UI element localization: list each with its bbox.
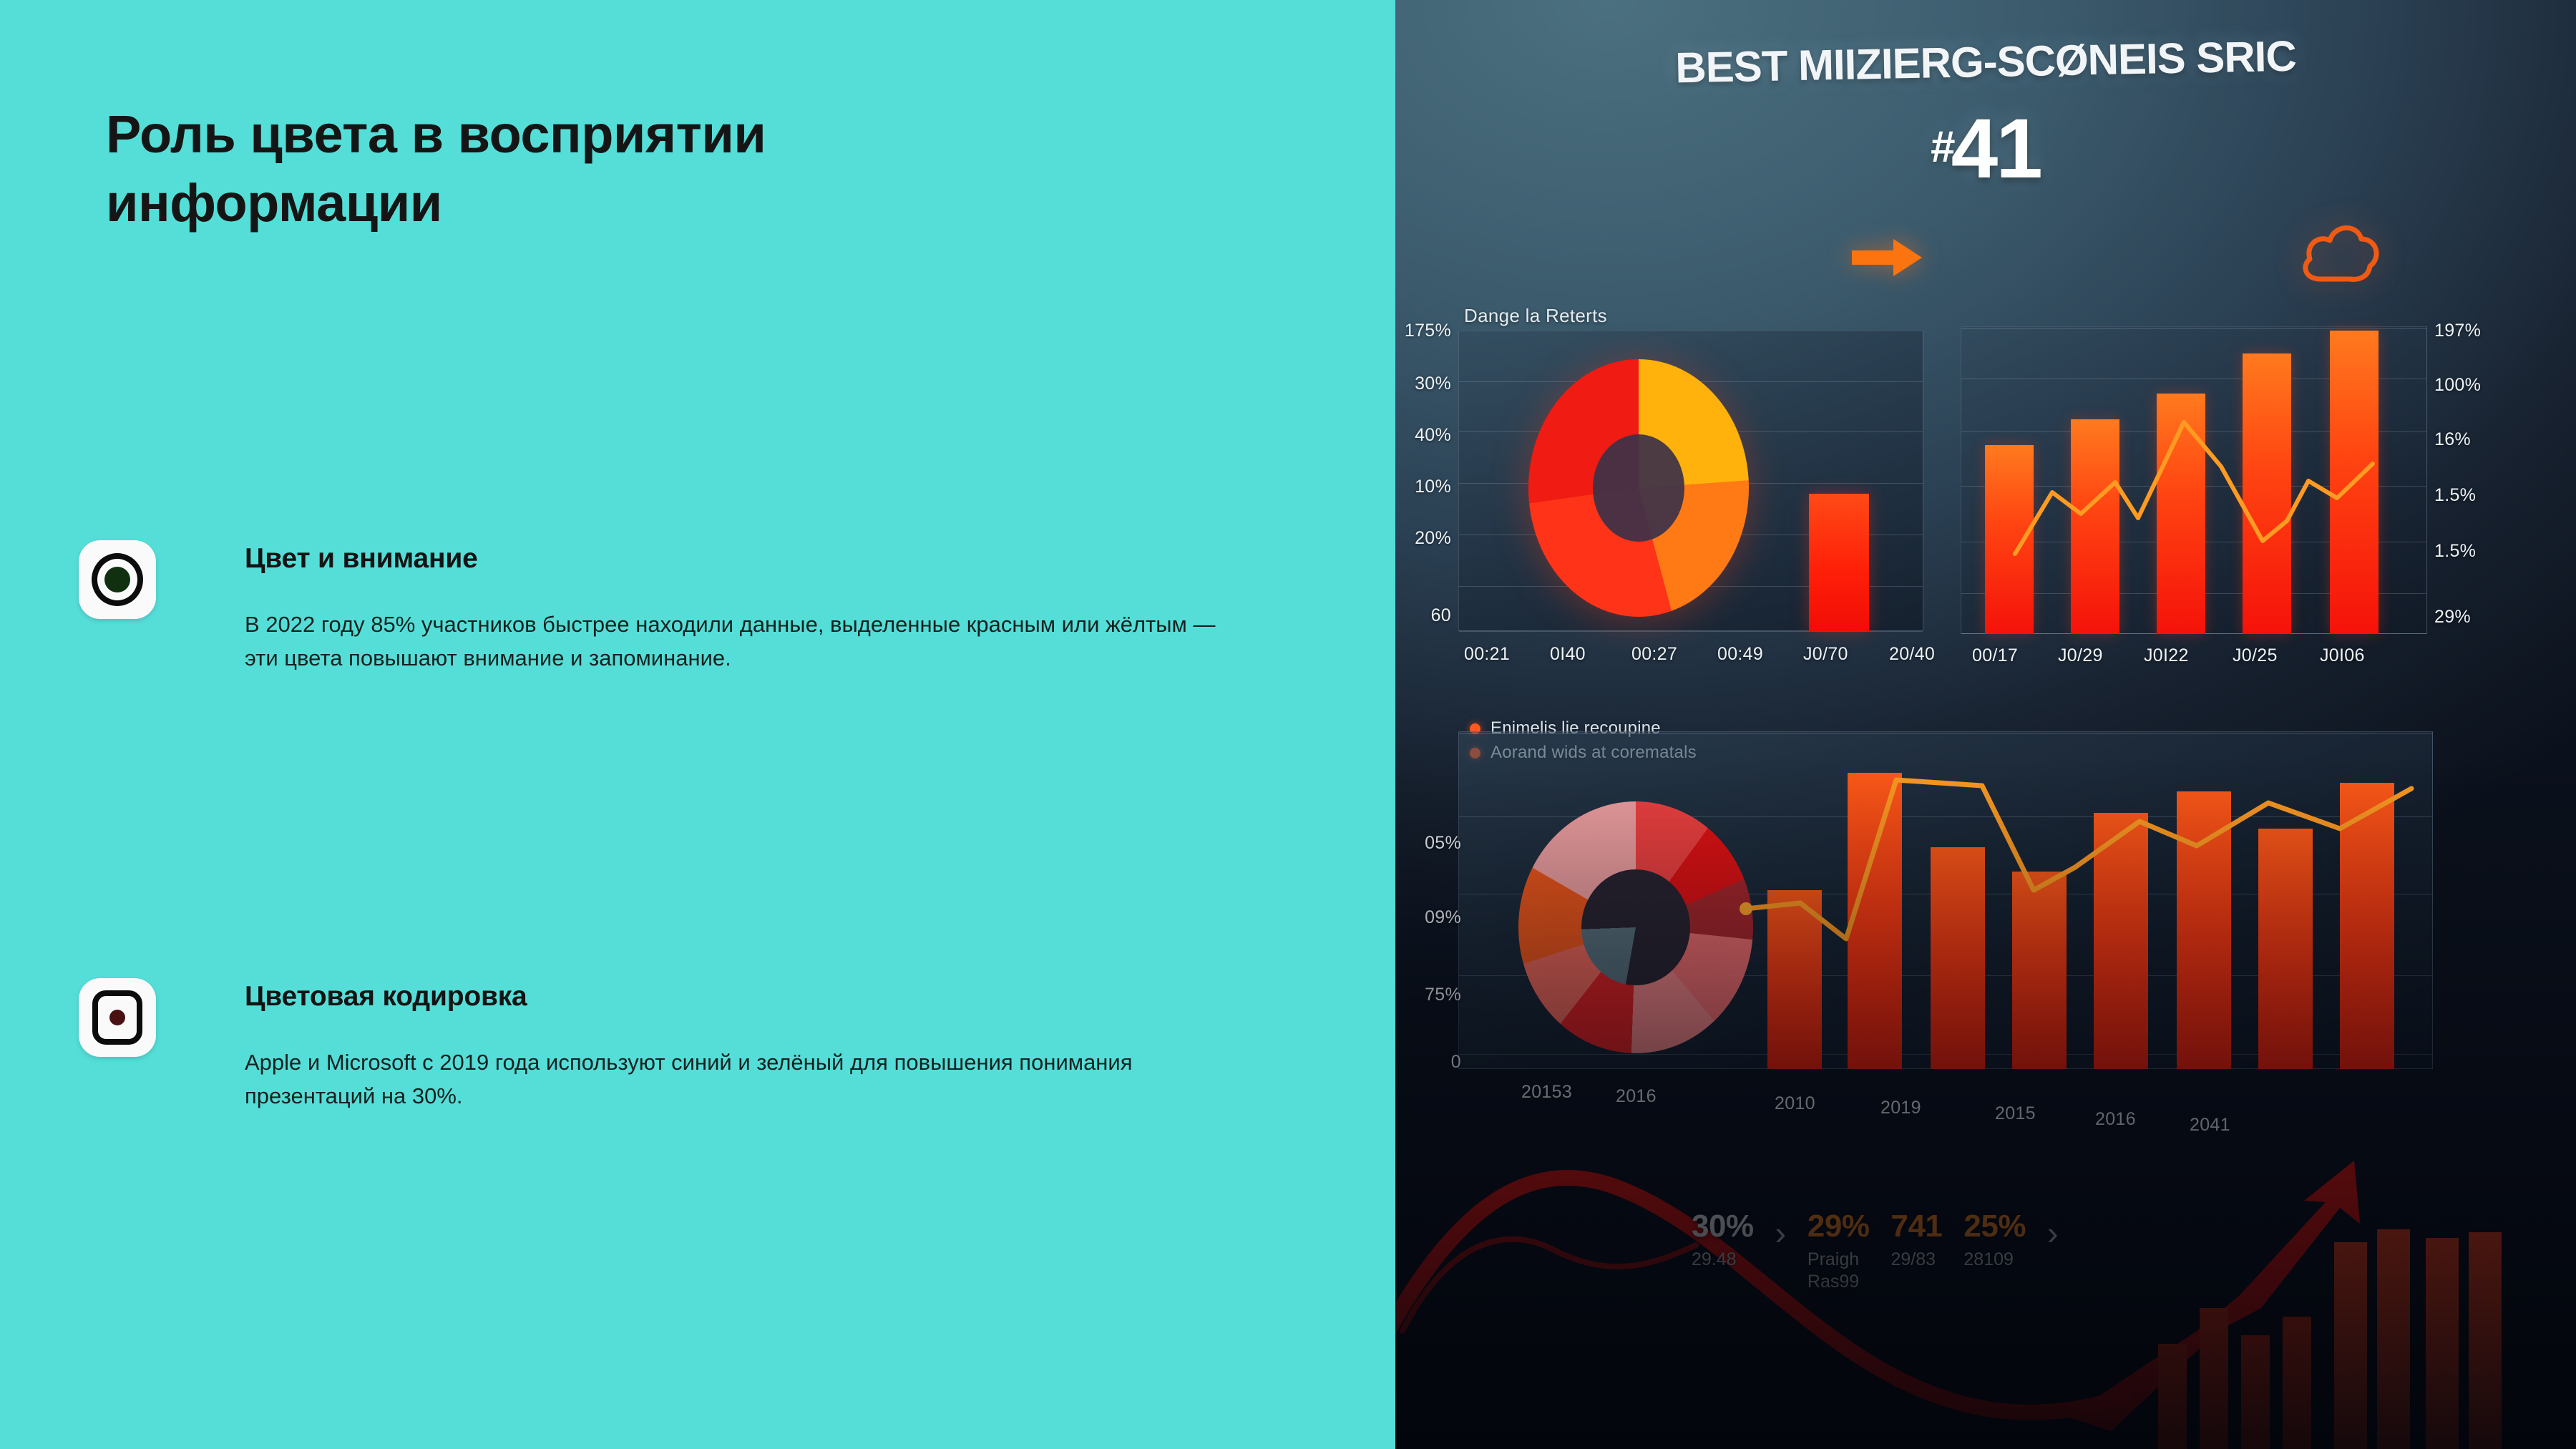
panel2-xtick-4: J0I06 bbox=[2320, 645, 2365, 666]
stat-item-2: 741 29/83 bbox=[1890, 1211, 1942, 1271]
slide-root: Роль цвета в восприятии информации Цвет … bbox=[0, 0, 2576, 1449]
ring-outline bbox=[92, 553, 143, 606]
stat-item-1: 29% Praigh Ras99 bbox=[1807, 1211, 1870, 1292]
panel3-ytick-1: 09% bbox=[1395, 907, 1461, 928]
panel1-xtick-5: 20/40 bbox=[1889, 644, 1935, 665]
panel2-xtick-0: 00/17 bbox=[1972, 645, 2018, 666]
page-title-line-1: Роль цвета в восприятии bbox=[106, 100, 1222, 169]
panel1-xtick-2: 00:27 bbox=[1631, 644, 1677, 665]
page-title-line-2: информации bbox=[106, 169, 1222, 238]
cloud-icon bbox=[2298, 215, 2384, 285]
panel1-ytick-2: 40% bbox=[1395, 425, 1451, 446]
bullet-item-2: Цветовая кодировка Apple и Microsoft с 2… bbox=[79, 978, 1338, 1193]
panel3-overlay-line bbox=[1767, 760, 2433, 1069]
dashboard-stats-row: 30% 29.48 › 29% Praigh Ras99 741 29/83 2… bbox=[1692, 1211, 2058, 1292]
panel1-xtick-4: J0/70 bbox=[1803, 644, 1848, 665]
bullet-heading-1: Цвет и внимание bbox=[245, 543, 1338, 575]
bullet-text-2: Apple и Microsoft с 2019 года используют… bbox=[245, 1045, 1246, 1113]
panel1-ytick-3: 10% bbox=[1395, 477, 1451, 497]
dashboard-header-number: #41 bbox=[1931, 100, 2041, 197]
panel2-ytick-3: 1.5% bbox=[2434, 485, 2476, 506]
panel1-donut-chart bbox=[1528, 359, 1749, 617]
panel2-xtick-2: J0I22 bbox=[2144, 645, 2189, 666]
stat-value-3: 25% bbox=[1963, 1211, 2026, 1242]
panel1-xtick-0: 00:21 bbox=[1464, 644, 1510, 665]
panel3-xtick-3: 2019 bbox=[1880, 1098, 1921, 1118]
panel2-xtick-3: J0/25 bbox=[2233, 645, 2278, 666]
hash-prefix: # bbox=[1931, 122, 1951, 172]
rounded-square-dot-icon bbox=[79, 978, 156, 1057]
panel3-xtick-2: 2010 bbox=[1775, 1093, 1815, 1114]
bullet-text-1: В 2022 году 85% участников быстрее наход… bbox=[245, 608, 1246, 675]
stat-item-0: 30% 29.48 bbox=[1692, 1211, 1754, 1271]
stat-sub-1: Praigh Ras99 bbox=[1807, 1249, 1870, 1292]
bullet-item-1: Цвет и внимание В 2022 году 85% участник… bbox=[79, 540, 1338, 755]
header-number-value: 41 bbox=[1951, 102, 2041, 196]
panel3-donut-chart bbox=[1518, 801, 1753, 1053]
panel3-ytick-2: 75% bbox=[1395, 985, 1461, 1005]
panel2-bar-series bbox=[1972, 326, 2416, 634]
panel2-xtick-1: J0/29 bbox=[2058, 645, 2103, 666]
panel1-ytick-0: 175% bbox=[1395, 321, 1451, 341]
panel2-ytick-0: 197% bbox=[2434, 321, 2481, 341]
bullet-body-2: Цветовая кодировка Apple и Microsoft с 2… bbox=[245, 978, 1338, 1113]
panel1-title: Dange la Reterts bbox=[1464, 305, 1607, 327]
chevron-right-icon-0[interactable]: › bbox=[1775, 1214, 1786, 1252]
panel1-ytick-1: 30% bbox=[1395, 374, 1451, 394]
panel2-ytick-1: 100% bbox=[2434, 375, 2481, 396]
stat-sub-3: 28109 bbox=[1963, 1249, 2026, 1271]
panel3-ytick-3: 0 bbox=[1395, 1052, 1461, 1073]
square-center-dot bbox=[109, 1010, 125, 1025]
panel1-ytick-4: 20% bbox=[1395, 528, 1451, 549]
target-ring-icon bbox=[79, 540, 156, 619]
chevron-right-icon-1[interactable]: › bbox=[2047, 1214, 2058, 1252]
stat-value-1: 29% bbox=[1807, 1211, 1870, 1242]
foreground-red-bars bbox=[2154, 1216, 2576, 1449]
panel2-ytick-5: 29% bbox=[2434, 607, 2471, 628]
stat-value-0: 30% bbox=[1692, 1211, 1754, 1242]
ring-center-dot bbox=[104, 567, 130, 592]
bullet-heading-2: Цветовая кодировка bbox=[245, 981, 1338, 1013]
stat-sub-2: 29/83 bbox=[1890, 1249, 1942, 1271]
dashboard-header-title: BEST MIIZIERG-SCØNEIS SRIC bbox=[1675, 31, 2297, 93]
page-title: Роль цвета в восприятии информации bbox=[106, 100, 1222, 238]
panel1-bar bbox=[1809, 494, 1869, 631]
panel1-ytick-5: 60 bbox=[1395, 605, 1451, 626]
stat-item-3: 25% 28109 bbox=[1963, 1211, 2026, 1271]
dashboard-image-panel: BEST MIIZIERG-SCØNEIS SRIC #41 Dange la … bbox=[1395, 0, 2576, 1449]
panel2-overlay-line bbox=[1972, 326, 2416, 634]
panel1-xtick-1: 0I40 bbox=[1550, 644, 1586, 665]
arrow-right-icon bbox=[1852, 238, 1923, 278]
bullet-body-1: Цвет и внимание В 2022 году 85% участник… bbox=[245, 540, 1338, 675]
panel3-xtick-1: 2016 bbox=[1616, 1086, 1657, 1107]
panel1-xtick-3: 00:49 bbox=[1717, 644, 1763, 665]
bullet-list: Цвет и внимание В 2022 году 85% участник… bbox=[79, 540, 1338, 1193]
panel2-ytick-4: 1.5% bbox=[2434, 541, 2476, 562]
square-outline bbox=[92, 990, 142, 1045]
panel3-ytick-0: 05% bbox=[1395, 833, 1461, 854]
panel3-xtick-0: 20153 bbox=[1521, 1082, 1572, 1103]
panel3-bar-series bbox=[1767, 760, 2433, 1069]
left-content-panel: Роль цвета в восприятии информации Цвет … bbox=[0, 0, 1395, 1449]
stat-sub-0: 29.48 bbox=[1692, 1249, 1754, 1271]
stat-value-2: 741 bbox=[1890, 1211, 1942, 1242]
panel2-ytick-2: 16% bbox=[2434, 429, 2471, 450]
